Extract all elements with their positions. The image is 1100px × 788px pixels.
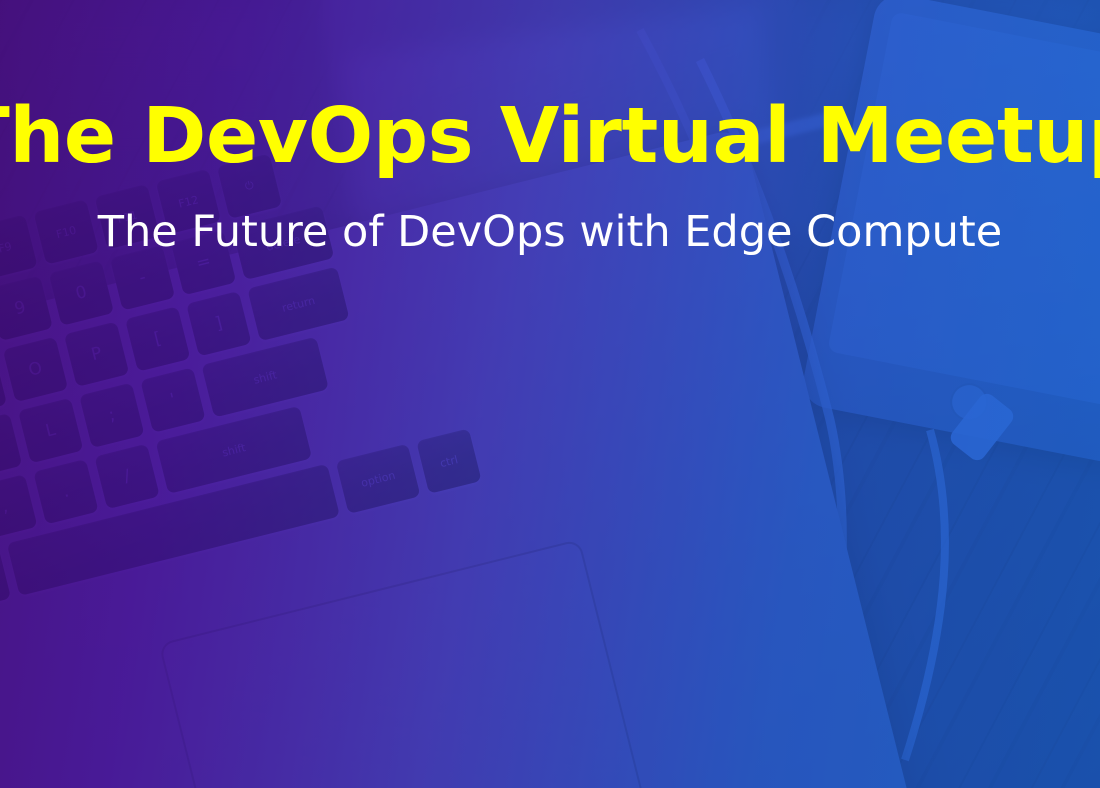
slide-title: The DevOps Virtual Meetup (0, 98, 1100, 175)
slide-subtitle: The Future of DevOps with Edge Compute (98, 211, 1002, 254)
text-layer: The DevOps Virtual Meetup The Future of … (0, 0, 1100, 788)
presentation-slide: F7 F8 F9 F10 F11 F12 ⏻ 7 8 9 0 - = delet… (0, 0, 1100, 788)
